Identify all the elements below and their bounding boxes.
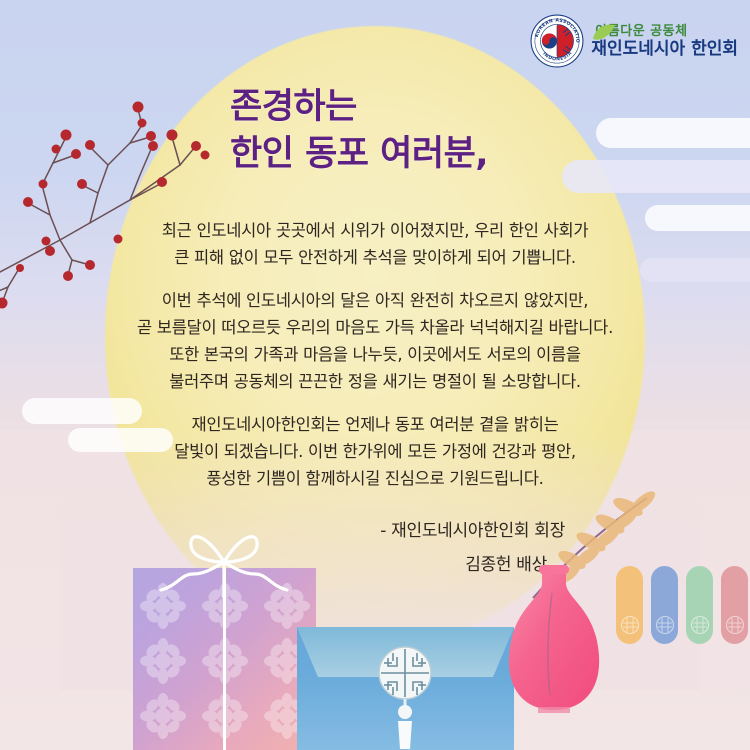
paragraph-line: 곧 보름달이 떠오르듯 우리의 마음도 가득 차올라 넉넉해지길 바랍니다. [0,315,750,342]
pill-emblem-icon [655,615,675,635]
title-line-1: 존경하는 [230,87,357,127]
pill-orange [616,566,643,644]
paragraph-line: 불러주며 공동체의 끈끈한 정을 새기는 명절이 될 소망합니다. [0,369,750,396]
paragraph-line: 큰 피해 없이 모두 안전하게 추석을 맞이하게 되어 기쁩니다. [0,245,750,272]
paragraph-1: 최근 인도네시아 곳곳에서 시위가 이어졌지만, 우리 한인 사회가 큰 피해 … [0,218,750,271]
paragraph-line: 또한 본국의 가족과 마음을 나누듯, 이곳에서도 서로의 이름을 [0,342,750,369]
green-leaf-icon [591,23,617,43]
paragraph-2: 이번 추석에 인도네시아의 달은 아직 완전히 차오르지 않았지만, 곧 보름달… [0,288,750,395]
paragraph-line: 이번 추석에 인도네시아의 달은 아직 완전히 차오르지 않았지만, [0,288,750,315]
logo-org-name: 재인도네시아 한인회 [591,41,738,58]
paragraph-line: 달빛이 되겠습니다. 이번 한가위에 모든 가정에 건강과 평안, [0,439,750,466]
korean-knot-medallion [376,645,434,750]
organization-logo: KOREAN ASSOCIATION INDONESIA 아름다운 공동체 재인… [530,14,738,68]
greeting-card: KOREAN ASSOCIATION INDONESIA 아름다운 공동체 재인… [0,0,750,750]
pill-green [686,566,713,644]
pink-vase [494,563,614,715]
pill-emblem-icon [620,615,640,635]
paragraph-line: 재인도네시아한인회는 언제나 동포 여러분 곁을 밝히는 [0,412,750,439]
pill-pink [721,566,748,644]
page-title: 존경하는 한인 동포 여러분, [230,84,650,177]
title-line-2: 한인 동포 여러분, [230,131,650,178]
gift-ribbon-bow [133,528,316,598]
decorative-pill-row [616,566,748,644]
pill-blue [651,566,678,644]
paragraph-line: 풍성한 기쁨이 함께하시길 진심으로 기원드립니다. [0,466,750,493]
paragraph-line: 최근 인도네시아 곳곳에서 시위가 이어졌지만, 우리 한인 사회가 [0,218,750,245]
pill-emblem-icon [690,615,710,635]
korean-association-indonesia-emblem: KOREAN ASSOCIATION INDONESIA [530,14,584,68]
paragraph-3: 재인도네시아한인회는 언제나 동포 여러분 곁을 밝히는 달빛이 되겠습니다. … [0,412,750,492]
pill-emblem-icon [725,615,745,635]
